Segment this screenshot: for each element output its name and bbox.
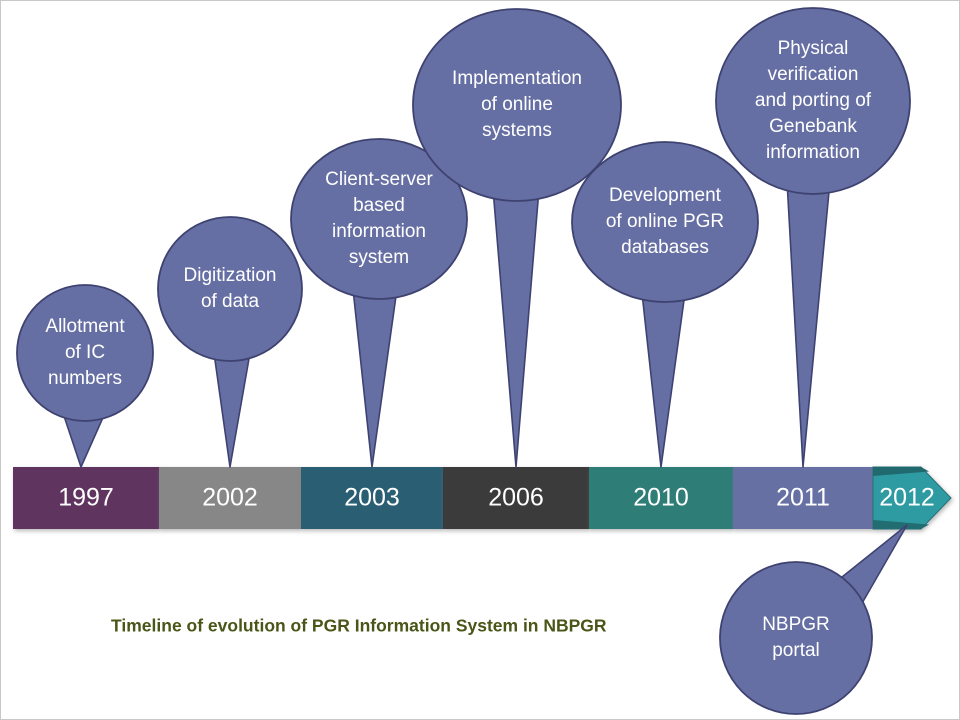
callout-text-line: Development (609, 185, 722, 206)
callout-text-line: portal (772, 640, 820, 661)
callout-text-line: NBPGR (762, 614, 830, 635)
segment-year-label: 2006 (488, 484, 544, 512)
callout-text-line: and porting of (755, 90, 872, 111)
segment-year-label: 2012 (879, 484, 935, 512)
callout-text-line: numbers (48, 368, 122, 389)
callout-text-line: of online (481, 94, 553, 115)
diagram-canvas: 1997200220032006201020112012 Allotmentof… (0, 0, 960, 720)
callout-text-line: Implementation (452, 68, 582, 89)
callout-text-line: Allotment (45, 316, 125, 337)
callout-text-line: based (353, 195, 405, 216)
callout-2002[interactable]: Digitizationof data (158, 217, 302, 467)
callout-text-line: databases (621, 237, 709, 258)
callout-text-line: of IC (65, 342, 105, 363)
segment-year-label: 2010 (633, 484, 689, 512)
timeline-segment-2011[interactable]: 2011 (733, 467, 873, 529)
segment-year-label: 2003 (344, 484, 400, 512)
callout-body (720, 562, 872, 714)
timeline-segment-2012[interactable]: 2012 (873, 467, 951, 529)
callout-text-line: Digitization (184, 265, 277, 286)
callout-bubbles: Allotmentof ICnumbersDigitizationof data… (17, 8, 910, 714)
timeline-segment-2006[interactable]: 2006 (443, 467, 589, 529)
callout-text-line: Client-server (325, 169, 433, 190)
callout-text-line: Genebank (769, 116, 857, 137)
callout-tail (642, 293, 685, 467)
callout-tail (787, 181, 830, 467)
timeline-segment-2002[interactable]: 2002 (159, 467, 301, 529)
callout-tail (493, 189, 539, 467)
timeline-segment-1997[interactable]: 1997 (13, 467, 159, 529)
callout-text-line: of data (201, 291, 260, 312)
timeline-bar: 1997200220032006201020112012 (13, 467, 951, 529)
diagram-caption: Timeline of evolution of PGR Information… (111, 616, 607, 636)
callout-2010[interactable]: Developmentof online PGRdatabases (572, 142, 758, 467)
callout-2012[interactable]: NBPGRportal (720, 525, 907, 714)
timeline-segment-2010[interactable]: 2010 (589, 467, 733, 529)
callout-text-line: systems (482, 120, 552, 141)
callout-tail (214, 353, 250, 467)
timeline-segment-2003[interactable]: 2003 (301, 467, 443, 529)
callout-text-line: of online PGR (606, 211, 724, 232)
callout-text-line: verification (768, 64, 859, 85)
segment-year-label: 2002 (202, 484, 258, 512)
callout-1997[interactable]: Allotmentof ICnumbers (17, 285, 153, 467)
segment-year-label: 1997 (58, 484, 114, 512)
timeline-diagram: 1997200220032006201020112012 Allotmentof… (1, 1, 960, 720)
callout-text-line: information (332, 221, 426, 242)
callout-text-line: information (766, 142, 860, 163)
callout-text-line: system (349, 247, 409, 268)
segment-year-label: 2011 (776, 484, 830, 512)
callout-2003[interactable]: Client-serverbasedinformationsystem (291, 139, 467, 467)
callout-tail (353, 289, 397, 467)
callout-body (158, 217, 302, 361)
callout-text-line: Physical (778, 38, 849, 59)
